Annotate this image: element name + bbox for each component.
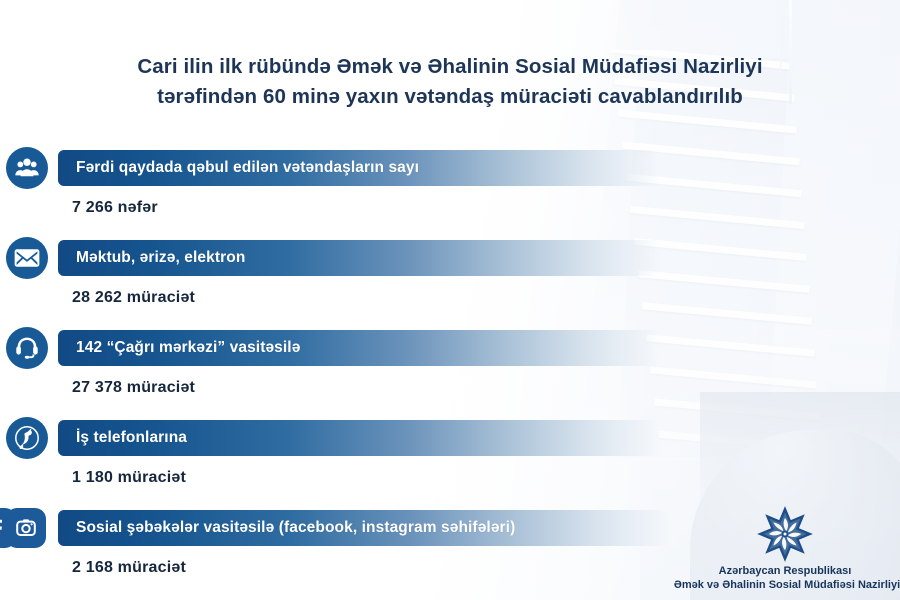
statistic-bar: 142 “Çağrı mərkəzi” vasitəsilə [58, 330, 660, 366]
people-group-icon [6, 147, 48, 189]
statistic-value: 7 266 nəfər [72, 199, 158, 217]
statistic-row: Məktub, ərizə, elektron28 262 müraciət [0, 237, 900, 327]
statistic-value: 1 180 müraciət [72, 469, 186, 487]
instagram-icon[interactable] [6, 508, 46, 548]
statistic-row: Fərdi qaydada qəbul edilən vətəndaşların… [0, 147, 900, 237]
logo-line-1: Azərbaycan Respublikası [719, 565, 852, 577]
statistic-bar: İş telefonlarına [58, 420, 660, 456]
infographic-canvas: Cari ilin ilk rübündə Əmək və Əhalinin S… [0, 0, 900, 600]
statistic-label: Sosial şəbəkələr vasitəsilə (facebook, i… [76, 519, 515, 537]
statistic-bar: Məktub, ərizə, elektron [58, 240, 660, 276]
ministry-logo: Azərbaycan Respublikası Əmək və Əhalinin… [660, 505, 900, 592]
social-icons-group [0, 507, 54, 549]
statistic-row: İş telefonlarına1 180 müraciət [0, 417, 900, 507]
statistic-label: İş telefonlarına [76, 429, 187, 447]
statistic-label: 142 “Çağrı mərkəzi” vasitəsilə [76, 339, 300, 357]
statistic-value: 2 168 müraciət [72, 559, 186, 577]
eight-pointed-star-emblem-icon [756, 505, 814, 563]
statistic-bar: Fərdi qaydada qəbul edilən vətəndaşların… [58, 150, 660, 186]
statistic-label: Məktub, ərizə, elektron [76, 249, 245, 267]
statistic-value: 28 262 müraciət [72, 289, 195, 307]
statistic-bar: Sosial şəbəkələr vasitəsilə (facebook, i… [58, 510, 670, 546]
statistic-value: 27 378 müraciət [72, 379, 195, 397]
envelope-icon [6, 237, 48, 279]
logo-text: Azərbaycan Respublikası Əmək və Əhalinin… [660, 564, 900, 592]
logo-line-2: Əmək və Əhalinin Sosial Müdafiəsi Nazirl… [664, 578, 900, 592]
telephone-icon [6, 417, 48, 459]
headset-icon [6, 327, 48, 369]
telephone-icon-badge [6, 417, 48, 459]
envelope-icon-badge [6, 237, 48, 279]
headset-icon-badge [6, 327, 48, 369]
statistic-label: Fərdi qaydada qəbul edilən vətəndaşların… [76, 159, 419, 177]
statistic-row: 142 “Çağrı mərkəzi” vasitəsilə27 378 mür… [0, 327, 900, 417]
people-group-icon-badge [6, 147, 48, 189]
